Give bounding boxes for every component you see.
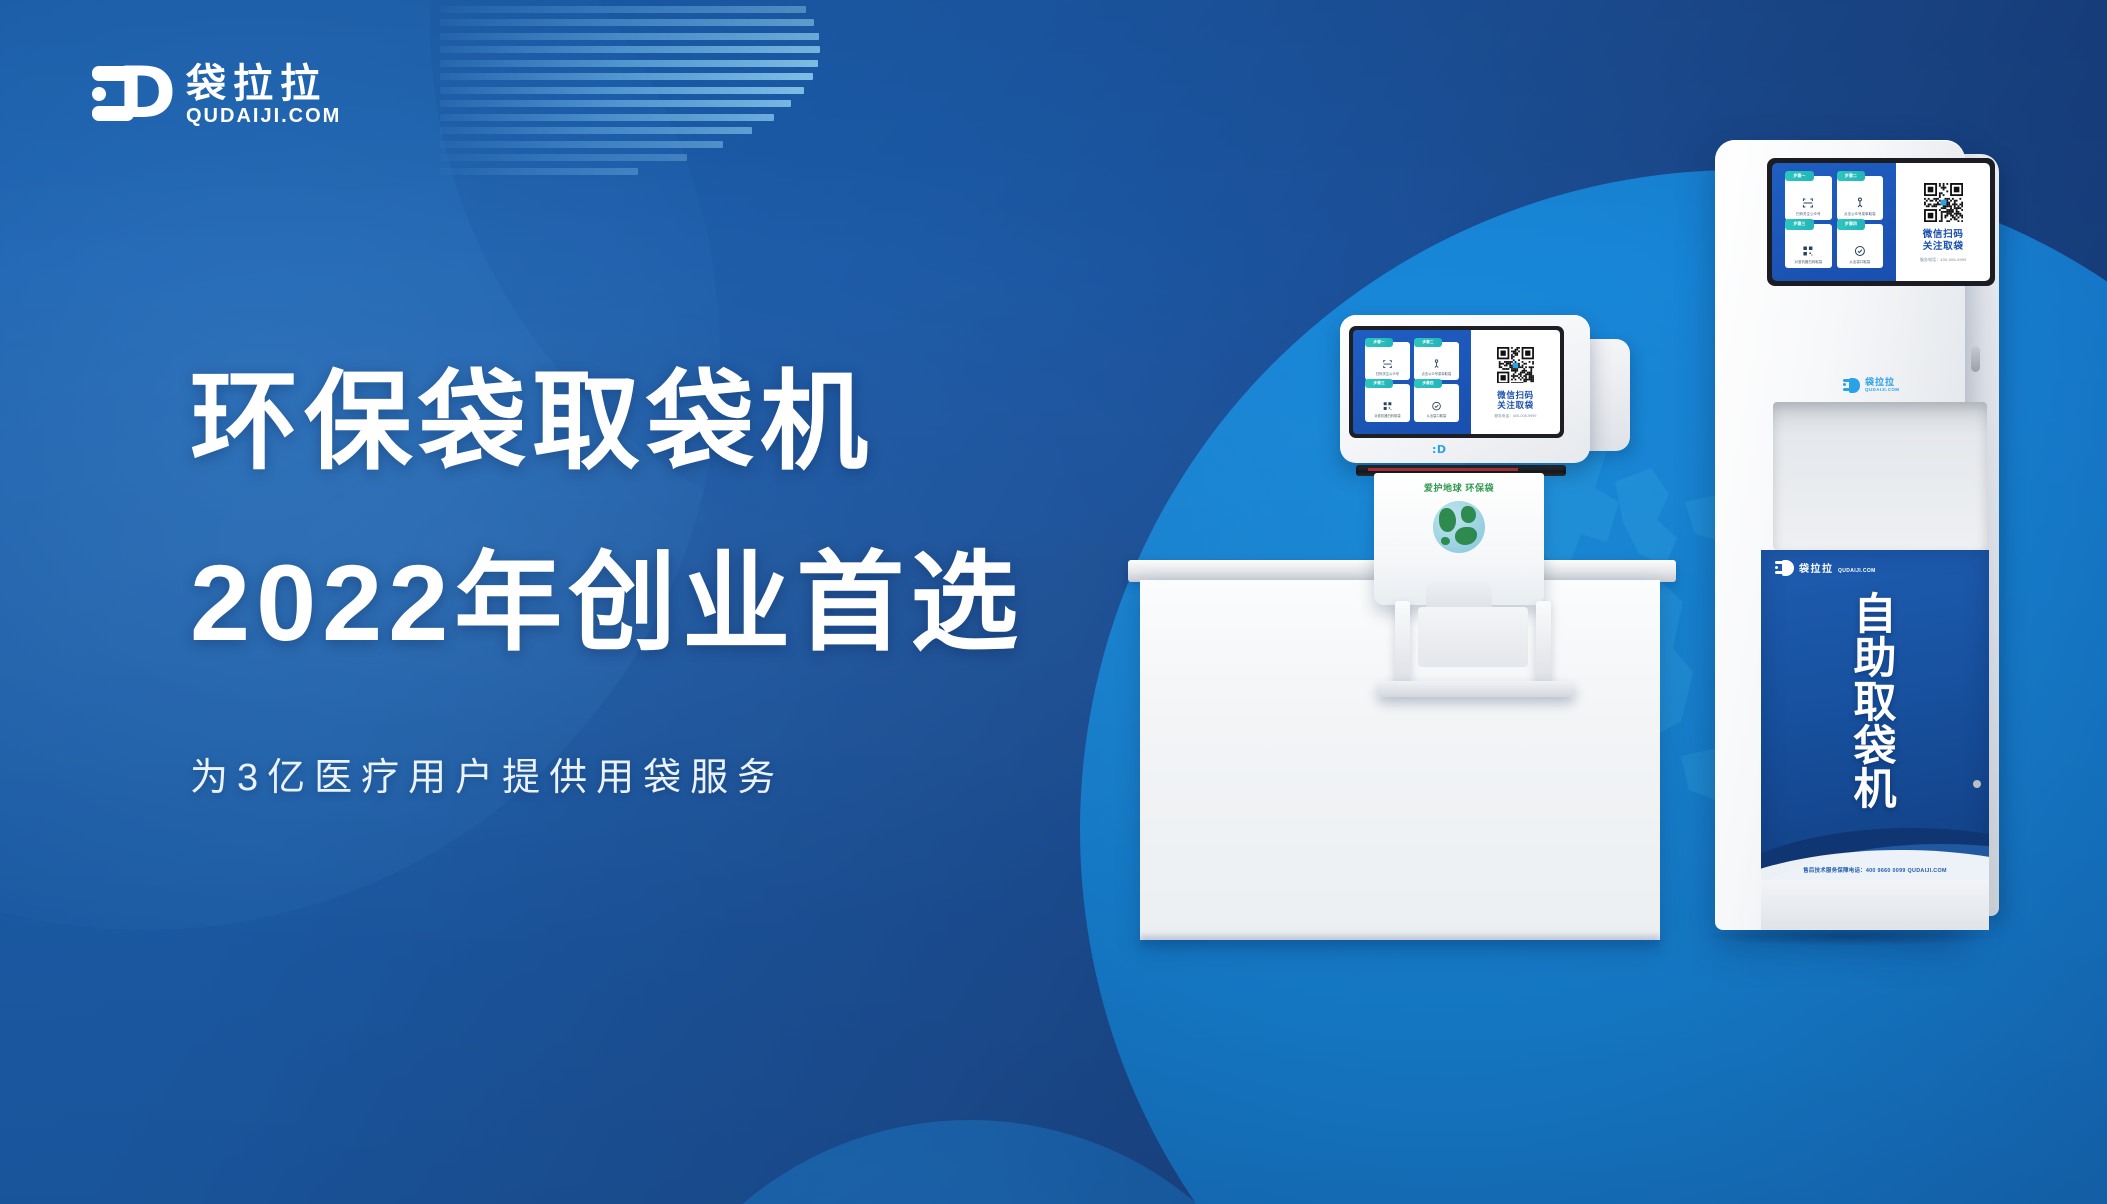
banner-vertical-char: 机	[1854, 769, 1897, 813]
kiosk-face-logo-en: QUDAIJI.COM	[1865, 387, 1899, 392]
kiosk-step-badge: 步骤二	[1837, 171, 1866, 181]
kiosk-step-caption: 从出袋口取袋	[1847, 260, 1874, 264]
wechat-qr-code-icon[interactable]	[1495, 345, 1536, 386]
kiosk-service-phone: 服务电话：400-006-9999	[1920, 257, 1967, 263]
qr-code-icon	[1800, 245, 1816, 257]
kiosk-step-tile[interactable]: 步骤二点击公众号菜单取袋	[1837, 176, 1884, 220]
banner-vertical-char: 自	[1854, 594, 1897, 638]
kiosk-face-mark-icon	[1843, 378, 1860, 393]
scan-qr-icon	[1380, 359, 1395, 369]
tap-hand-icon	[1852, 197, 1868, 209]
kiosk-qr-title: 微信扫码关注取袋	[1497, 390, 1533, 411]
kiosk-bag-output-recess	[1773, 402, 1987, 550]
product-photo: 步骤一扫码关注公众号步骤二点击公众号菜单取袋步骤三对准机器扫码取袋步骤四从出袋口…	[1190, 140, 2040, 970]
kiosk-steps-panel: 步骤一扫码关注公众号步骤二点击公众号菜单取袋步骤三对准机器扫码取袋步骤四从出袋口…	[1772, 163, 1896, 281]
countertop-dispenser: 步骤一扫码关注公众号步骤二点击公众号菜单取袋步骤三对准机器扫码取袋步骤四从出袋口…	[1340, 315, 1630, 615]
kiosk-body: 步骤一扫码关注公众号步骤二点击公众号菜单取袋步骤三对准机器扫码取袋步骤四从出袋口…	[1715, 140, 1965, 930]
eco-bag-slogan: 爱护地球 环保袋	[1424, 481, 1494, 494]
banner-logo-en: QUDAIJI.COM	[1838, 568, 1876, 574]
kiosk-vertical-banner: 袋拉拉 QUDAIJI.COM 自助取袋机 售后技术服务保障电话：400 966…	[1761, 550, 1989, 880]
kiosk-step-badge: 步骤一	[1365, 338, 1392, 347]
kiosk-lock-icon[interactable]	[1973, 780, 1981, 788]
headline-line-1: 环保袋取袋机	[190, 360, 1250, 483]
kiosk-step-tile[interactable]: 步骤四从出袋口取袋	[1837, 224, 1884, 268]
brand-domain: QUDAIJI.COM	[186, 106, 341, 126]
check-circle-icon	[1852, 245, 1868, 257]
kiosk-step-badge: 步骤二	[1414, 338, 1441, 347]
kiosk-step-tile[interactable]: 步骤一扫码关注公众号	[1365, 342, 1409, 380]
subheadline: 为3亿医疗用户提供用袋服务	[190, 746, 1250, 801]
banner-vertical-char: 取	[1854, 682, 1897, 726]
kiosk-step-tile[interactable]: 步骤一扫码关注公众号	[1785, 176, 1832, 220]
qudaiji-mark-icon: D	[92, 62, 168, 128]
countertop-stand-base	[1378, 681, 1574, 697]
bag-handle	[1426, 581, 1492, 607]
kiosk-qr-panel: 微信扫码关注取袋服务电话：400-006-9999	[1471, 330, 1560, 434]
brand-name-cn: 袋拉拉	[186, 64, 341, 105]
kiosk-face-logo-cn: 袋拉拉	[1865, 378, 1899, 387]
banner-mark-icon	[1775, 560, 1794, 576]
floor-standing-kiosk: 步骤一扫码关注公众号步骤二点击公众号菜单取袋步骤三对准机器扫码取袋步骤四从出袋口…	[1675, 140, 2005, 930]
tap-hand-icon	[1429, 359, 1444, 369]
countertop-stand-post-left	[1395, 601, 1410, 687]
counter-shadow	[1140, 936, 1660, 952]
kiosk-step-badge: 步骤三	[1785, 219, 1814, 229]
kiosk-step-caption: 点击公众号菜单取袋	[1419, 372, 1454, 376]
kiosk-service-phone: 服务电话：400-006-9999	[1494, 414, 1536, 419]
banner-footer-text: 售后技术服务保障电话：400 9660 0099 QUDAIJI.COM	[1761, 866, 1989, 874]
brand-logo[interactable]: D 袋拉拉 QUDAIJI.COM	[92, 62, 341, 128]
countertop-screen-logo: :D	[1432, 443, 1447, 456]
hero-banner: D 袋拉拉 QUDAIJI.COM 环保袋取袋机 2022年创业首选 为3亿医疗…	[0, 0, 2107, 1204]
kiosk-lower-panel	[1761, 880, 1989, 930]
headline-line-2: 2022年创业首选	[190, 541, 1250, 664]
qr-code-icon	[1380, 401, 1395, 411]
banner-vertical-title: 自助取袋机	[1761, 594, 1989, 813]
earth-globe-icon	[1433, 501, 1485, 553]
kiosk-step-caption: 扫码关注公众号	[1373, 372, 1401, 376]
kiosk-step-caption: 点击公众号菜单取袋	[1841, 212, 1878, 216]
banner-vertical-char: 袋	[1854, 726, 1897, 770]
countertop-stand-neck	[1418, 607, 1528, 667]
kiosk-step-badge: 步骤四	[1837, 219, 1866, 229]
banner-vertical-char: 助	[1854, 638, 1897, 682]
countertop-stand-post-right	[1536, 601, 1551, 687]
check-circle-icon	[1429, 401, 1444, 411]
countertop-dispenser-head: 步骤一扫码关注公众号步骤二点击公众号菜单取袋步骤三对准机器扫码取袋步骤四从出袋口…	[1340, 315, 1590, 463]
kiosk-steps-panel: 步骤一扫码关注公众号步骤二点击公众号菜单取袋步骤三对准机器扫码取袋步骤四从出袋口…	[1353, 330, 1471, 434]
kiosk-step-tile[interactable]: 步骤二点击公众号菜单取袋	[1414, 342, 1458, 380]
kiosk-step-caption: 对准机器扫码取袋	[1792, 260, 1826, 264]
kiosk-step-badge: 步骤三	[1365, 379, 1392, 388]
banner-logo: 袋拉拉 QUDAIJI.COM	[1775, 559, 1876, 577]
kiosk-step-caption: 扫码关注公众号	[1793, 212, 1823, 216]
scan-qr-icon	[1800, 197, 1816, 209]
brand-logo-text: 袋拉拉 QUDAIJI.COM	[186, 64, 341, 127]
kiosk-step-caption: 从出袋口取袋	[1424, 414, 1449, 418]
kiosk-door-handle[interactable]	[1971, 346, 1980, 372]
dispensed-eco-bag: 爱护地球 环保袋	[1374, 473, 1544, 605]
hero-copy: 环保袋取袋机 2022年创业首选 为3亿医疗用户提供用袋服务	[190, 360, 1250, 801]
kiosk-face-logo: 袋拉拉 QUDAIJI.COM	[1843, 378, 1899, 393]
kiosk-qr-panel: 微信扫码关注取袋服务电话：400-006-9999	[1896, 163, 1990, 281]
kiosk-step-caption: 对准机器扫码取袋	[1372, 414, 1404, 418]
wechat-qr-code-icon[interactable]	[1922, 181, 1965, 224]
kiosk-step-tile[interactable]: 步骤三对准机器扫码取袋	[1365, 384, 1409, 422]
kiosk-screen-bezel: 步骤一扫码关注公众号步骤二点击公众号菜单取袋步骤三对准机器扫码取袋步骤四从出袋口…	[1767, 158, 1995, 286]
kiosk-step-tile[interactable]: 步骤三对准机器扫码取袋	[1785, 224, 1832, 268]
kiosk-step-badge: 步骤四	[1414, 379, 1441, 388]
kiosk-step-badge: 步骤一	[1785, 171, 1814, 181]
kiosk-qr-title: 微信扫码关注取袋	[1923, 229, 1964, 252]
kiosk-step-tile[interactable]: 步骤四从出袋口取袋	[1414, 384, 1458, 422]
countertop-screen-bezel: 步骤一扫码关注公众号步骤二点击公众号菜单取袋步骤三对准机器扫码取袋步骤四从出袋口…	[1349, 326, 1564, 438]
banner-logo-cn: 袋拉拉	[1799, 564, 1834, 575]
